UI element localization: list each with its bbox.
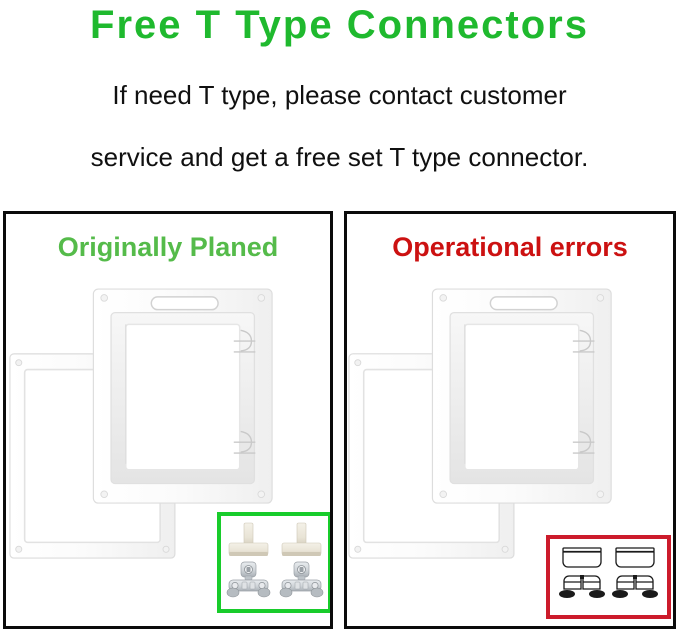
t-metal-bracket-2 xyxy=(280,562,323,597)
header-block: Free T Type Connectors If need T type, p… xyxy=(0,0,679,196)
handle-slot-icon xyxy=(490,297,557,310)
straight-connector-outline-1 xyxy=(563,548,601,567)
frame-piece-front xyxy=(432,289,611,503)
panel-title-originally-planed: Originally Planed xyxy=(6,232,330,263)
straight-connector-feet-1 xyxy=(559,575,605,598)
comparison-panel-error: Operational errors xyxy=(344,211,676,629)
frame-piece-front xyxy=(93,289,272,503)
handle-slot-icon xyxy=(151,297,218,310)
comparison-panel-correct: Originally Planed xyxy=(3,211,333,629)
t-connector-cover-1 xyxy=(229,523,268,556)
t-metal-bracket-1 xyxy=(227,562,270,597)
header-subtitle-line-2: service and get a free set T type connec… xyxy=(0,142,679,173)
straight-connector-feet-2 xyxy=(612,575,658,598)
panel-title-operational-errors: Operational errors xyxy=(347,232,673,263)
t-connector-cover-2 xyxy=(282,523,321,556)
inset-box-t-connectors xyxy=(217,512,332,613)
inset-box-straight-connectors xyxy=(546,535,671,619)
page-title: Free T Type Connectors xyxy=(0,0,679,50)
straight-connector-outline-2 xyxy=(616,548,654,567)
header-subtitle-line-1: If need T type, please contact customer xyxy=(0,80,679,111)
